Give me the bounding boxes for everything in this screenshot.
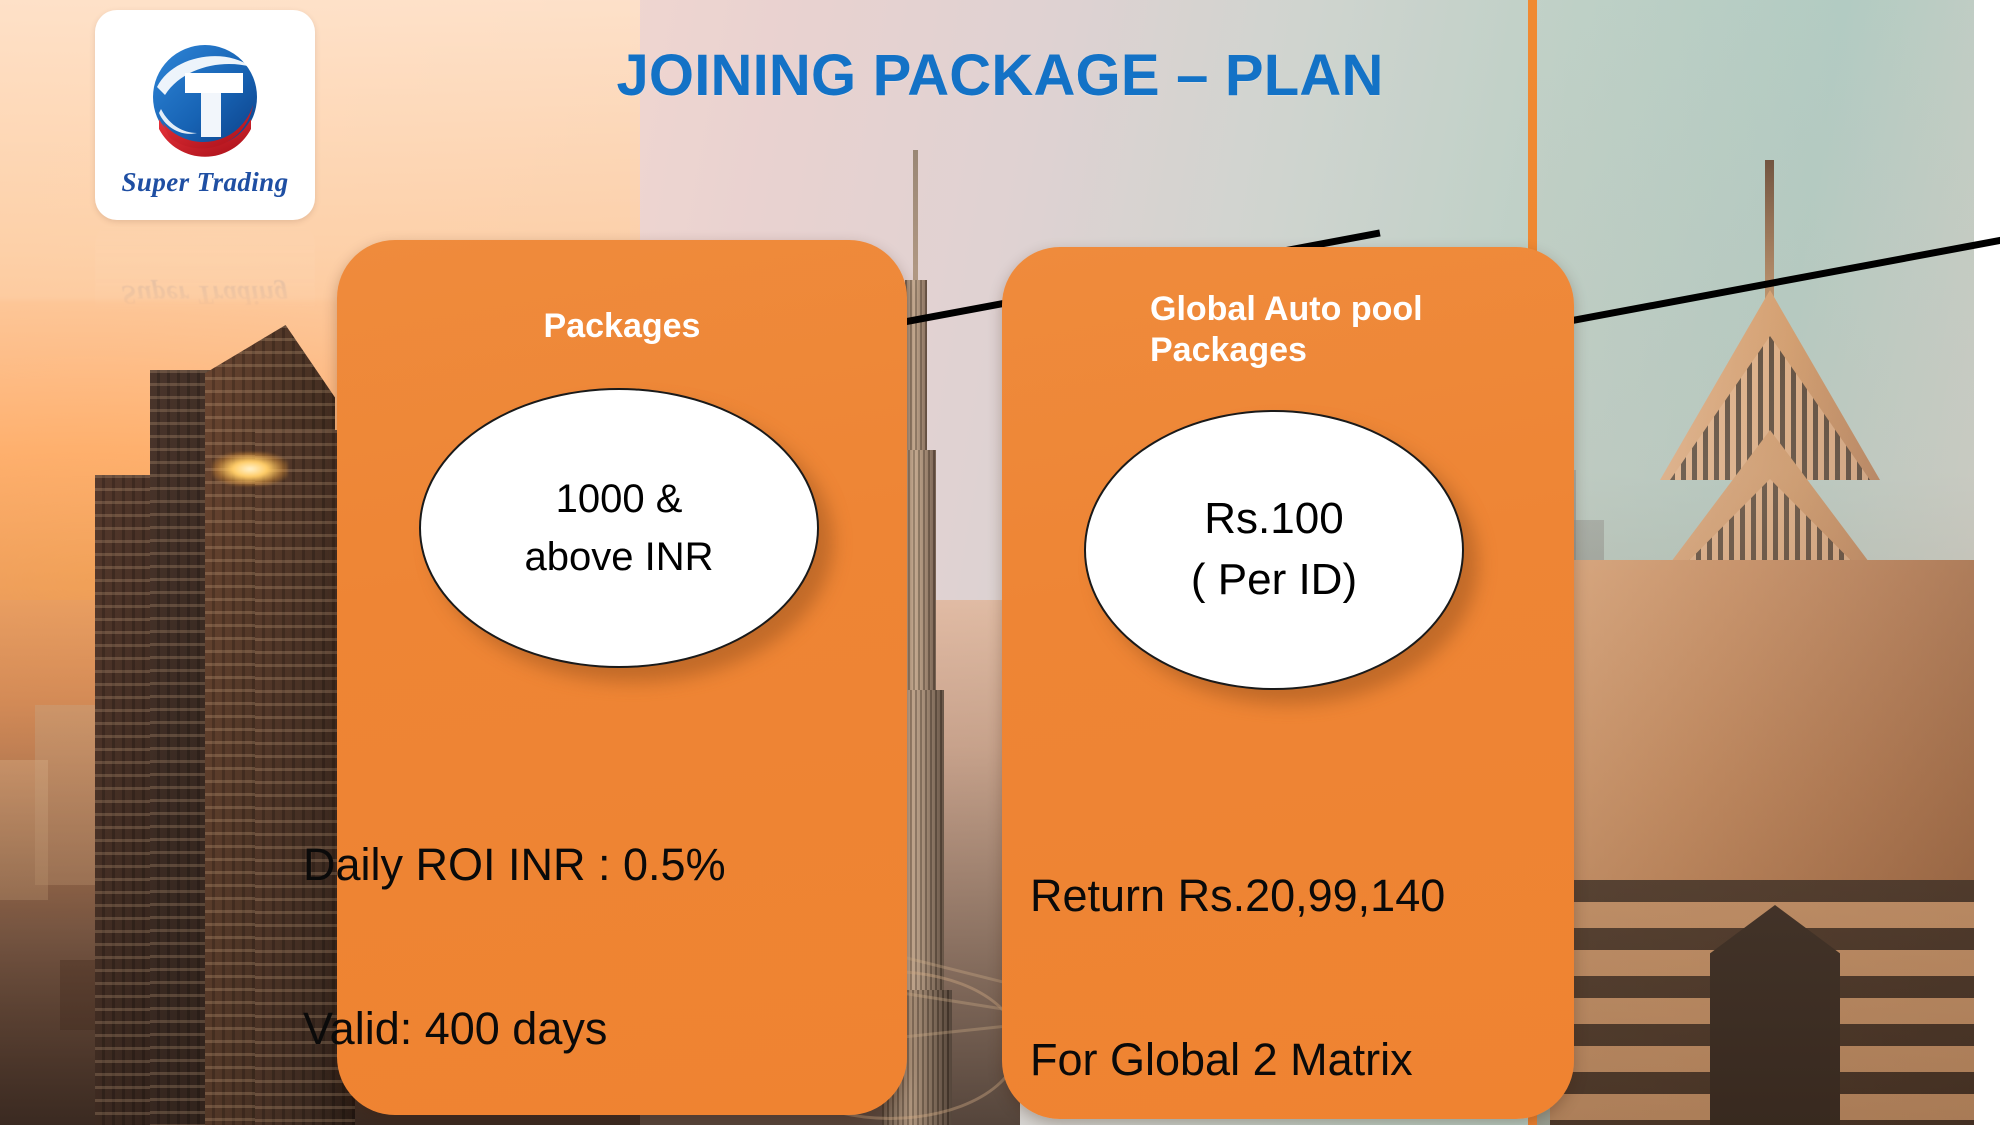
right-white-margin xyxy=(1974,0,2000,1125)
card-body: Daily ROI INR : 0.5% Valid: 400 days Ret… xyxy=(303,728,943,1125)
slide-canvas: Super Trading Super Trading JOINING PACK… xyxy=(0,0,2000,1125)
logo-brand-text: Super Trading xyxy=(122,167,289,198)
far-building xyxy=(0,760,48,900)
price-badge: Rs.100 ( Per ID) xyxy=(1084,410,1464,690)
sun-reflection-flare xyxy=(212,452,288,486)
card-heading: Global Auto pool Packages xyxy=(1150,289,1510,372)
card-heading: Packages xyxy=(337,306,907,347)
card-body-line: Return Rs.20,99,140 xyxy=(1030,869,1590,924)
slide-title: JOINING PACKAGE – PLAN xyxy=(0,42,2000,109)
price-badge-line: above INR xyxy=(525,528,714,586)
price-badge: 1000 & above INR xyxy=(419,388,819,668)
card-global-auto-pool[interactable]: Global Auto pool Packages Rs.100 ( Per I… xyxy=(1002,247,1574,1119)
card-packages[interactable]: Packages 1000 & above INR Daily ROI INR … xyxy=(337,240,907,1115)
price-badge-ellipse: Rs.100 ( Per ID) xyxy=(1084,410,1464,690)
card-body-line: Daily ROI INR : 0.5% xyxy=(303,838,943,893)
right-cityscape xyxy=(1530,0,2000,1125)
price-badge-line: ( Per ID) xyxy=(1191,550,1357,611)
logo-reflection-text: Super Trading xyxy=(122,279,289,310)
logo-reflection: Super Trading xyxy=(95,222,315,318)
card-body-line: For Global 2 Matrix xyxy=(1030,1033,1590,1088)
card-body: Return Rs.20,99,140 For Global 2 Matrix … xyxy=(1030,759,1590,1125)
price-badge-ellipse: 1000 & above INR xyxy=(419,388,819,668)
price-badge-line: Rs.100 xyxy=(1204,489,1343,550)
card-body-line: Valid: 400 days xyxy=(303,1002,943,1057)
price-badge-line: 1000 & xyxy=(556,470,683,528)
